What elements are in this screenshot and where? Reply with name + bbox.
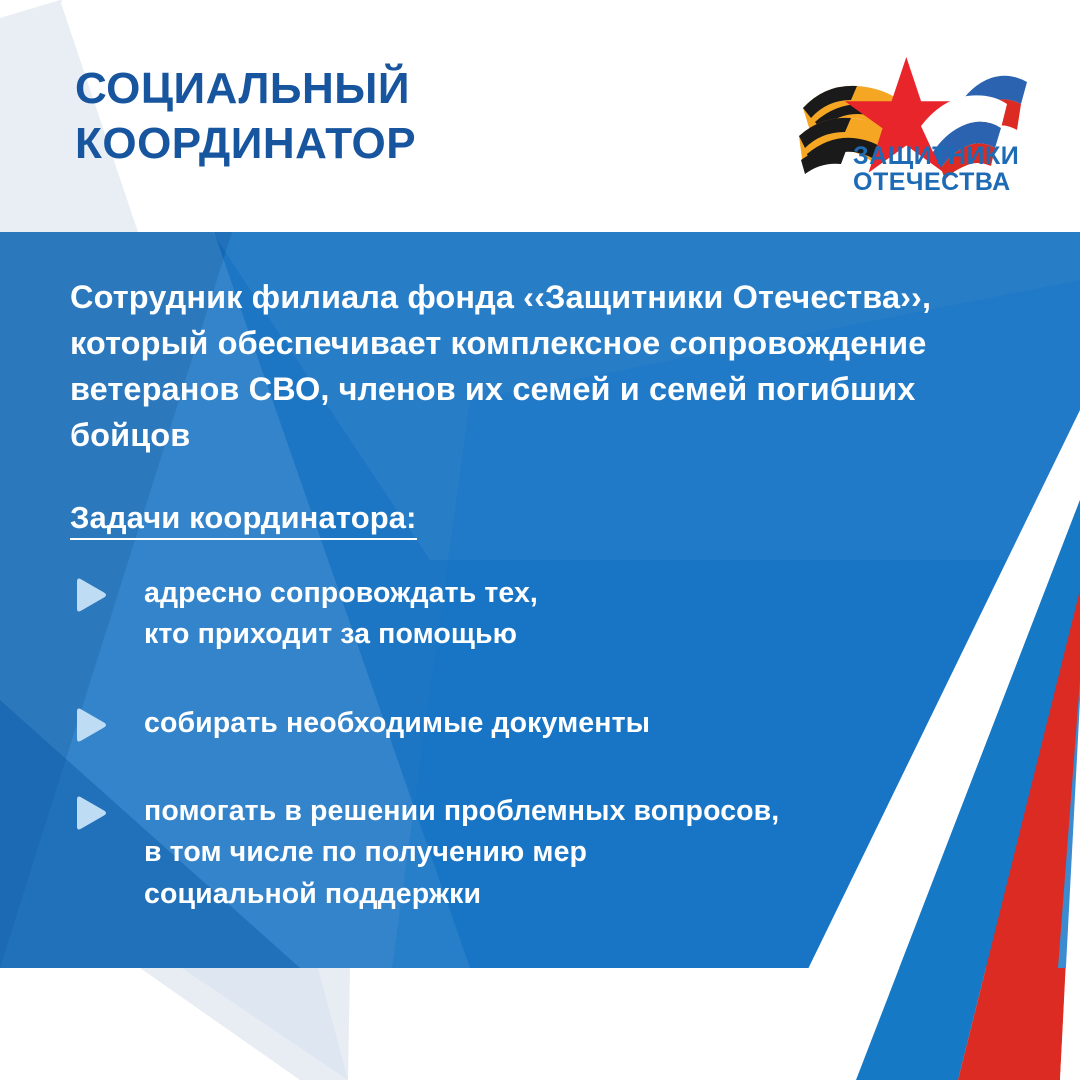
tasks-list: адресно сопровождать тех, кто приходит з… xyxy=(70,572,970,961)
poster-header: СОЦИАЛЬНЫЙ КООРДИНАТОР xyxy=(0,0,1080,232)
poster-canvas: СОЦИАЛЬНЫЙ КООРДИНАТОР xyxy=(0,0,1080,1080)
play-triangle-icon xyxy=(70,576,110,614)
lead-paragraph: Сотрудник филиала фонда ‹‹Защитники Отеч… xyxy=(70,274,950,459)
page-title: СОЦИАЛЬНЫЙ КООРДИНАТОР xyxy=(75,62,416,171)
play-triangle-icon xyxy=(70,706,110,744)
logo-text-line2: ОТЕЧЕСТВА xyxy=(853,168,1011,196)
logo-text-line1: ЗАЩИТНИКИ xyxy=(853,142,1019,170)
list-item-label: помогать в решении проблемных вопросов, … xyxy=(144,790,779,915)
list-item: адресно сопровождать тех, кто приходит з… xyxy=(70,572,970,656)
list-item-label: собирать необходимые документы xyxy=(144,702,650,744)
tasks-heading: Задачи координатора: xyxy=(70,500,417,540)
fund-logo: ЗАЩИТНИКИ ОТЕЧЕСТВА xyxy=(795,38,1060,196)
play-triangle-icon xyxy=(70,794,110,832)
list-item-label: адресно сопровождать тех, кто приходит з… xyxy=(144,572,538,656)
main-content-panel: Сотрудник филиала фонда ‹‹Защитники Отеч… xyxy=(0,232,1080,968)
content-wrapper: Сотрудник филиала фонда ‹‹Защитники Отеч… xyxy=(0,232,1080,968)
list-item: помогать в решении проблемных вопросов, … xyxy=(70,790,970,915)
list-item: собирать необходимые документы xyxy=(70,702,970,744)
